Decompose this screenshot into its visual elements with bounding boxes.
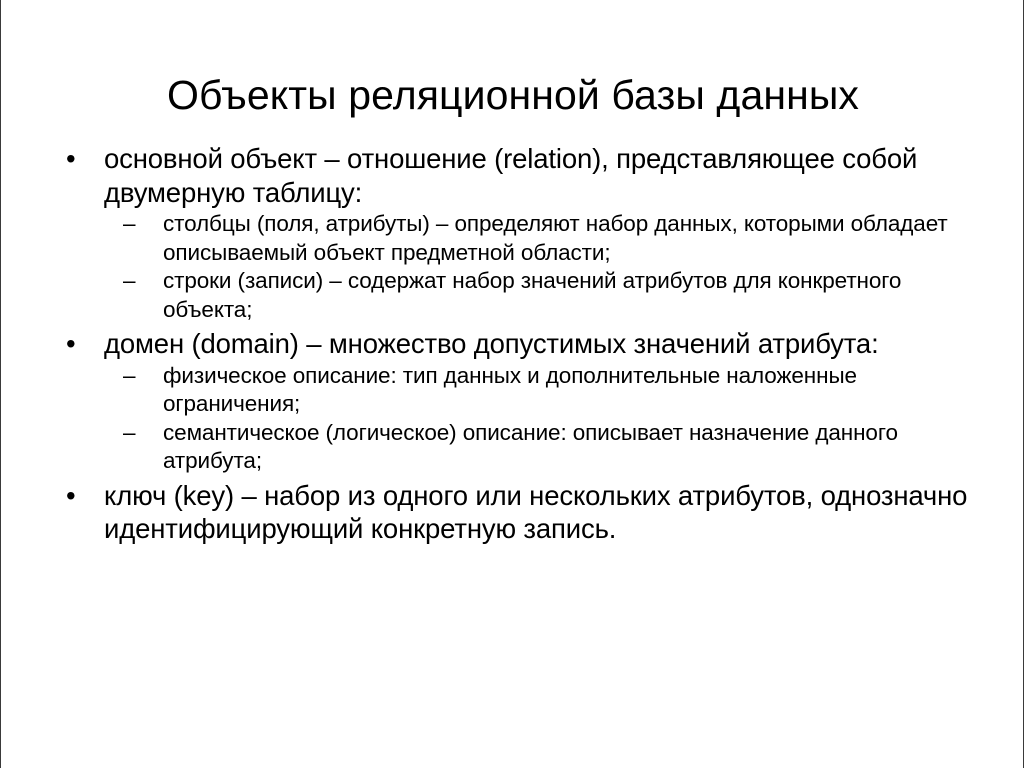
bullet-item-level1: • домен (domain) – множество допустимых …	[57, 327, 969, 476]
bullet-item-level1: • основной объект – отношение (relation)…	[57, 142, 969, 324]
bullet-dot-icon: •	[66, 479, 75, 513]
bullet-dot-icon: •	[66, 327, 75, 361]
bullet-dash-icon: –	[123, 210, 135, 239]
sub-bullet-list: – физическое описание: тип данных и допо…	[104, 362, 969, 476]
slide-title: Объекты реляционной базы данных	[1, 71, 1024, 119]
bullet-item-level2: – физическое описание: тип данных и допо…	[118, 362, 969, 419]
sub-bullet-item-text: столбцы (поля, атрибуты) – определяют на…	[163, 210, 969, 267]
bullet-dash-icon: –	[123, 362, 135, 391]
sub-bullet-item-text: строки (записи) – содержат набор значени…	[163, 267, 969, 324]
sub-bullet-item-text: физическое описание: тип данных и дополн…	[163, 362, 969, 419]
bullet-item-text: основной объект – отношение (relation), …	[104, 142, 969, 209]
sub-bullet-item-text: семантическое (логическое) описание: опи…	[163, 419, 969, 476]
bullet-item-level2: – семантическое (логическое) описание: о…	[118, 419, 969, 476]
bullet-dot-icon: •	[66, 142, 75, 176]
presentation-slide: Объекты реляционной базы данных • основн…	[0, 0, 1024, 768]
bullet-dash-icon: –	[123, 267, 135, 296]
sub-bullet-list: – столбцы (поля, атрибуты) – определяют …	[104, 210, 969, 324]
bullet-item-level1: • ключ (key) – набор из одного или неско…	[57, 479, 969, 546]
bullet-item-text: ключ (key) – набор из одного или несколь…	[104, 479, 969, 546]
slide-bullet-list: • основной объект – отношение (relation)…	[57, 142, 969, 547]
bullet-item-level2: – столбцы (поля, атрибуты) – определяют …	[118, 210, 969, 267]
bullet-item-text: домен (domain) – множество допустимых зн…	[104, 327, 969, 361]
bullet-item-level2: – строки (записи) – содержат набор значе…	[118, 267, 969, 324]
bullet-dash-icon: –	[123, 419, 135, 448]
